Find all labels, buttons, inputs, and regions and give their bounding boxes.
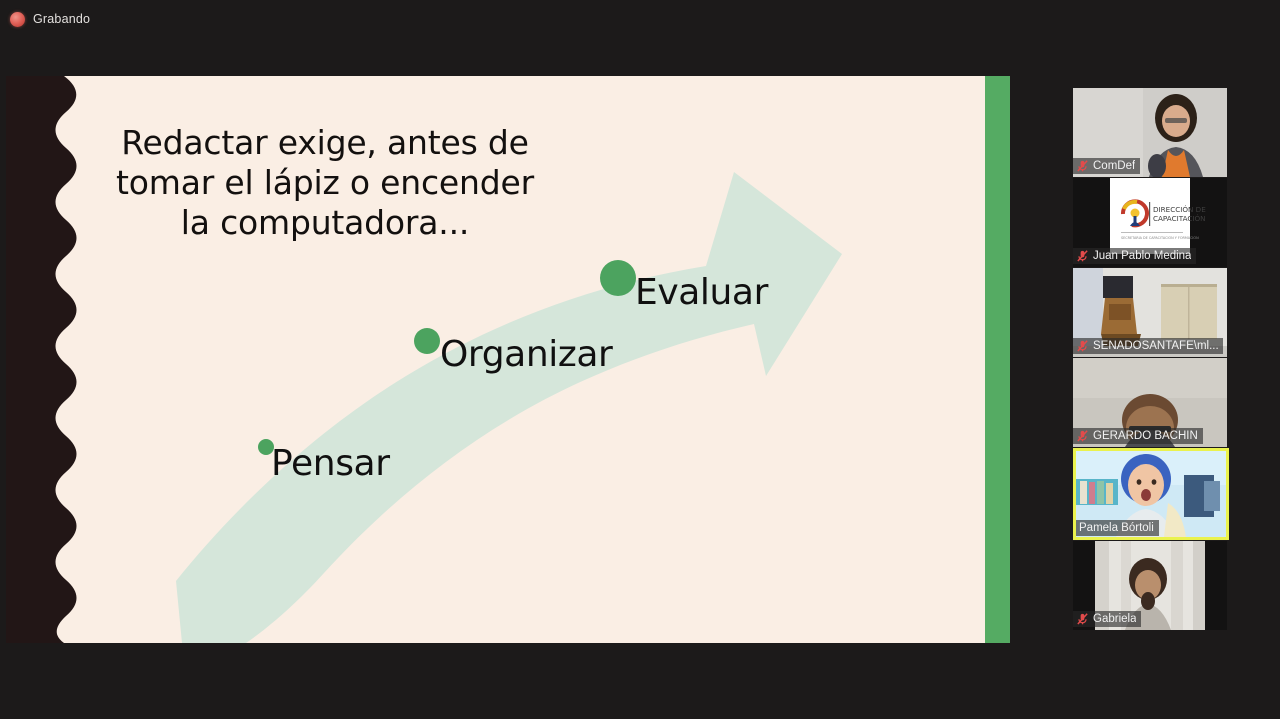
svg-text:DIRECCIÓN DE: DIRECCIÓN DE <box>1153 205 1206 214</box>
participant-name: SENADOSANTAFE\ml... <box>1093 339 1218 353</box>
participant-tile-gerardo-bachin[interactable]: GERARDO BACHIN <box>1073 358 1227 447</box>
participant-footer: Gabriela <box>1073 611 1141 627</box>
participant-name: Gabriela <box>1093 612 1136 626</box>
participant-tile-juan-pablo-medina[interactable]: DIRECCIÓN DE CAPACITACIÓN SECRETARIA DE … <box>1073 178 1227 267</box>
participant-tile-senadosantafe[interactable]: SENADOSANTAFE\ml... <box>1073 268 1227 357</box>
svg-text:CAPACITACIÓN: CAPACITACIÓN <box>1153 214 1206 223</box>
recording-label: Grabando <box>33 12 90 26</box>
participant-footer: ComDef <box>1073 158 1140 174</box>
participant-footer: SENADOSANTAFE\ml... <box>1073 338 1223 354</box>
mute-microphone-icon <box>1076 429 1089 443</box>
participant-name: ComDef <box>1093 159 1135 173</box>
participant-thumbnail-rail: ComDef DIRECCIÓN DE C <box>1073 88 1229 631</box>
mute-microphone-icon <box>1076 249 1089 263</box>
mute-microphone-icon <box>1076 339 1089 353</box>
participant-footer: Juan Pablo Medina <box>1073 248 1196 264</box>
participant-footer: Pamela Bórtoli <box>1076 520 1159 536</box>
mute-microphone-icon <box>1076 159 1089 173</box>
participant-tile-comdef[interactable]: ComDef <box>1073 88 1227 177</box>
participant-tile-pamela-bortoli[interactable]: Pamela Bórtoli <box>1073 448 1229 540</box>
shared-screen-slide[interactable]: Redactar exige, antes de tomar el lápiz … <box>6 76 1010 643</box>
mute-microphone-icon <box>1076 612 1089 626</box>
recording-indicator-bar: Grabando <box>0 0 1280 38</box>
screen-share-meeting-window: Grabando Redactar e <box>0 0 1280 719</box>
svg-text:SECRETARIA DE CAPACITACION Y F: SECRETARIA DE CAPACITACION Y FORMACION <box>1121 236 1199 240</box>
participant-name: Juan Pablo Medina <box>1093 249 1191 263</box>
participant-footer: GERARDO BACHIN <box>1073 428 1203 444</box>
participant-tile-gabriela[interactable]: Gabriela <box>1073 541 1227 630</box>
participant-name: Pamela Bórtoli <box>1079 521 1154 535</box>
participant-name: GERARDO BACHIN <box>1093 429 1198 443</box>
slide-graphic <box>6 76 1010 643</box>
record-dot-icon <box>10 12 25 27</box>
